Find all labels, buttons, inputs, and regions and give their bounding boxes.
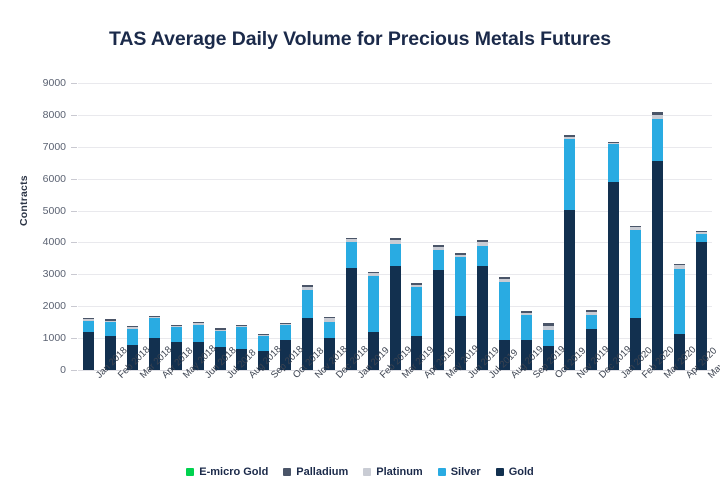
x-axis-tick-label: May 2018 xyxy=(181,373,189,381)
x-axis-tick-label: Oct 2019 xyxy=(553,373,561,381)
bar-segment-silver xyxy=(368,276,379,333)
bar-segment-silver xyxy=(564,139,575,211)
y-axis-tick xyxy=(71,147,77,148)
bar-segment-gold xyxy=(652,161,663,370)
bar-segment-silver xyxy=(280,325,291,340)
bar-segment-silver xyxy=(477,246,488,266)
legend-label: Gold xyxy=(509,466,534,478)
y-axis-tick xyxy=(71,338,77,339)
x-axis-tick-label: Nov 2018 xyxy=(313,373,321,381)
legend-swatch-icon xyxy=(363,468,371,476)
legend-label: E-micro Gold xyxy=(199,466,268,478)
x-axis-tick-label: Dec 2019 xyxy=(597,373,605,381)
bar-segment-silver xyxy=(586,315,597,329)
y-axis-title: Contracts xyxy=(18,175,30,226)
bar-segment-silver xyxy=(171,327,182,342)
bar-segment-gold xyxy=(83,332,94,370)
bars-layer xyxy=(78,83,712,370)
bar-segment-silver xyxy=(455,257,466,315)
legend-swatch-icon xyxy=(496,468,504,476)
y-axis-tick-label: 0 xyxy=(60,364,66,376)
legend-item-silver[interactable]: Silver xyxy=(438,466,481,478)
x-axis-tick-label: Mar 2019 xyxy=(400,373,408,381)
x-axis-tick-label: Apr 2019 xyxy=(422,373,430,381)
bar-segment-silver xyxy=(105,322,116,336)
y-axis-tick-label: 8000 xyxy=(43,109,66,121)
bar-segment-silver xyxy=(608,144,619,182)
x-axis-tick-label: Aug 2019 xyxy=(509,373,517,381)
x-axis-tick-label: Feb 2020 xyxy=(640,373,648,381)
bar-segment-silver xyxy=(193,325,204,342)
y-axis-tick-label: 1000 xyxy=(43,332,66,344)
y-axis-tick-label: 4000 xyxy=(43,236,66,248)
x-axis-tick-label: Apr 2020 xyxy=(684,373,692,381)
y-axis-tick-label: 2000 xyxy=(43,300,66,312)
bar-segment-silver xyxy=(236,327,247,349)
bar-segment-silver xyxy=(652,119,663,161)
legend-label: Platinum xyxy=(376,466,422,478)
bar-jan-2018[interactable] xyxy=(83,318,94,370)
x-axis-tick-label: Apr 2018 xyxy=(160,373,168,381)
x-axis-tick-label: Oct 2018 xyxy=(291,373,299,381)
legend-label: Palladium xyxy=(296,466,348,478)
y-axis-tick xyxy=(71,274,77,275)
x-axis-tick-label: Jan 2018 xyxy=(94,373,102,381)
y-axis-tick xyxy=(71,306,77,307)
x-axis-tick-label: Feb 2018 xyxy=(116,373,124,381)
bar-segment-silver xyxy=(674,269,685,335)
y-axis-tick-label: 9000 xyxy=(43,77,66,89)
bar-feb-2020[interactable] xyxy=(630,226,641,370)
bar-segment-gold xyxy=(608,182,619,370)
bar-segment-silver xyxy=(433,250,444,270)
x-axis-tick-label: Mar 2018 xyxy=(138,373,146,381)
x-axis-tick-label: Feb 2019 xyxy=(378,373,386,381)
bar-segment-silver xyxy=(411,287,422,336)
bar-segment-silver xyxy=(346,242,357,268)
chart-title: TAS Average Daily Volume for Precious Me… xyxy=(0,28,720,51)
x-axis-tick-label: Jan 2020 xyxy=(619,373,627,381)
legend-swatch-icon xyxy=(186,468,194,476)
y-axis-tick-label: 5000 xyxy=(43,205,66,217)
x-axis-tick-label: Aug 2018 xyxy=(247,373,255,381)
x-axis-tick-labels: Jan 2018Feb 2018Mar 2018Apr 2018May 2018… xyxy=(78,373,712,443)
legend-swatch-icon xyxy=(438,468,446,476)
bar-segment-silver xyxy=(630,230,641,317)
x-axis-tick-label: Jan 2019 xyxy=(356,373,364,381)
bar-mar-2020[interactable] xyxy=(652,112,663,370)
y-axis-tick xyxy=(71,179,77,180)
x-axis-tick-label: Mar 2020 xyxy=(662,373,670,381)
x-axis-tick-label: May 2019 xyxy=(444,373,452,381)
legend-item-platinum[interactable]: Platinum xyxy=(363,466,422,478)
bar-segment-silver xyxy=(83,321,94,333)
bar-segment-silver xyxy=(499,282,510,340)
y-axis-tick xyxy=(71,211,77,212)
y-axis-tick-label: 7000 xyxy=(43,141,66,153)
legend-item-e-micro-gold[interactable]: E-micro Gold xyxy=(186,466,268,478)
bar-segment-silver xyxy=(127,329,138,346)
bar-segment-silver xyxy=(324,322,335,338)
bar-segment-silver xyxy=(258,336,269,351)
bar-segment-silver xyxy=(543,330,554,346)
bar-segment-silver xyxy=(302,290,313,318)
bar-segment-silver xyxy=(696,234,707,242)
bar-segment-gold xyxy=(564,210,575,370)
x-axis-tick-label: May 2020 xyxy=(706,373,714,381)
x-axis-tick-label: Sep 2019 xyxy=(531,373,539,381)
chart-legend: E-micro GoldPalladiumPlatinumSilverGold xyxy=(0,466,720,478)
y-axis-tick xyxy=(71,115,77,116)
y-axis-tick xyxy=(71,83,77,84)
bar-nov-2019[interactable] xyxy=(564,135,575,370)
legend-item-gold[interactable]: Gold xyxy=(496,466,534,478)
y-axis-tick-label: 3000 xyxy=(43,268,66,280)
y-axis-tick-label: 6000 xyxy=(43,173,66,185)
legend-swatch-icon xyxy=(283,468,291,476)
x-axis-tick-label: Jun 2018 xyxy=(203,373,211,381)
y-axis-tick xyxy=(71,242,77,243)
x-axis-tick-label: Sep 2018 xyxy=(269,373,277,381)
x-axis-tick-label: Nov 2019 xyxy=(575,373,583,381)
bar-may-2020[interactable] xyxy=(696,231,707,370)
plot-area: 0100020003000400050006000700080009000 xyxy=(78,83,712,370)
legend-label: Silver xyxy=(451,466,481,478)
bar-jan-2020[interactable] xyxy=(608,142,619,370)
bar-segment-silver xyxy=(521,315,532,340)
x-axis-tick-label: Dec 2018 xyxy=(334,373,342,381)
x-axis-tick-label: Jul 2019 xyxy=(487,373,495,381)
chart-container: TAS Average Daily Volume for Precious Me… xyxy=(0,0,720,500)
legend-item-palladium[interactable]: Palladium xyxy=(283,466,348,478)
bar-segment-silver xyxy=(390,244,401,266)
bar-segment-silver xyxy=(215,331,226,347)
y-axis-tick xyxy=(71,370,77,371)
x-axis-tick-label: Jun 2019 xyxy=(466,373,474,381)
x-axis-tick-label: Jul 2018 xyxy=(225,373,233,381)
bar-segment-silver xyxy=(149,318,160,338)
